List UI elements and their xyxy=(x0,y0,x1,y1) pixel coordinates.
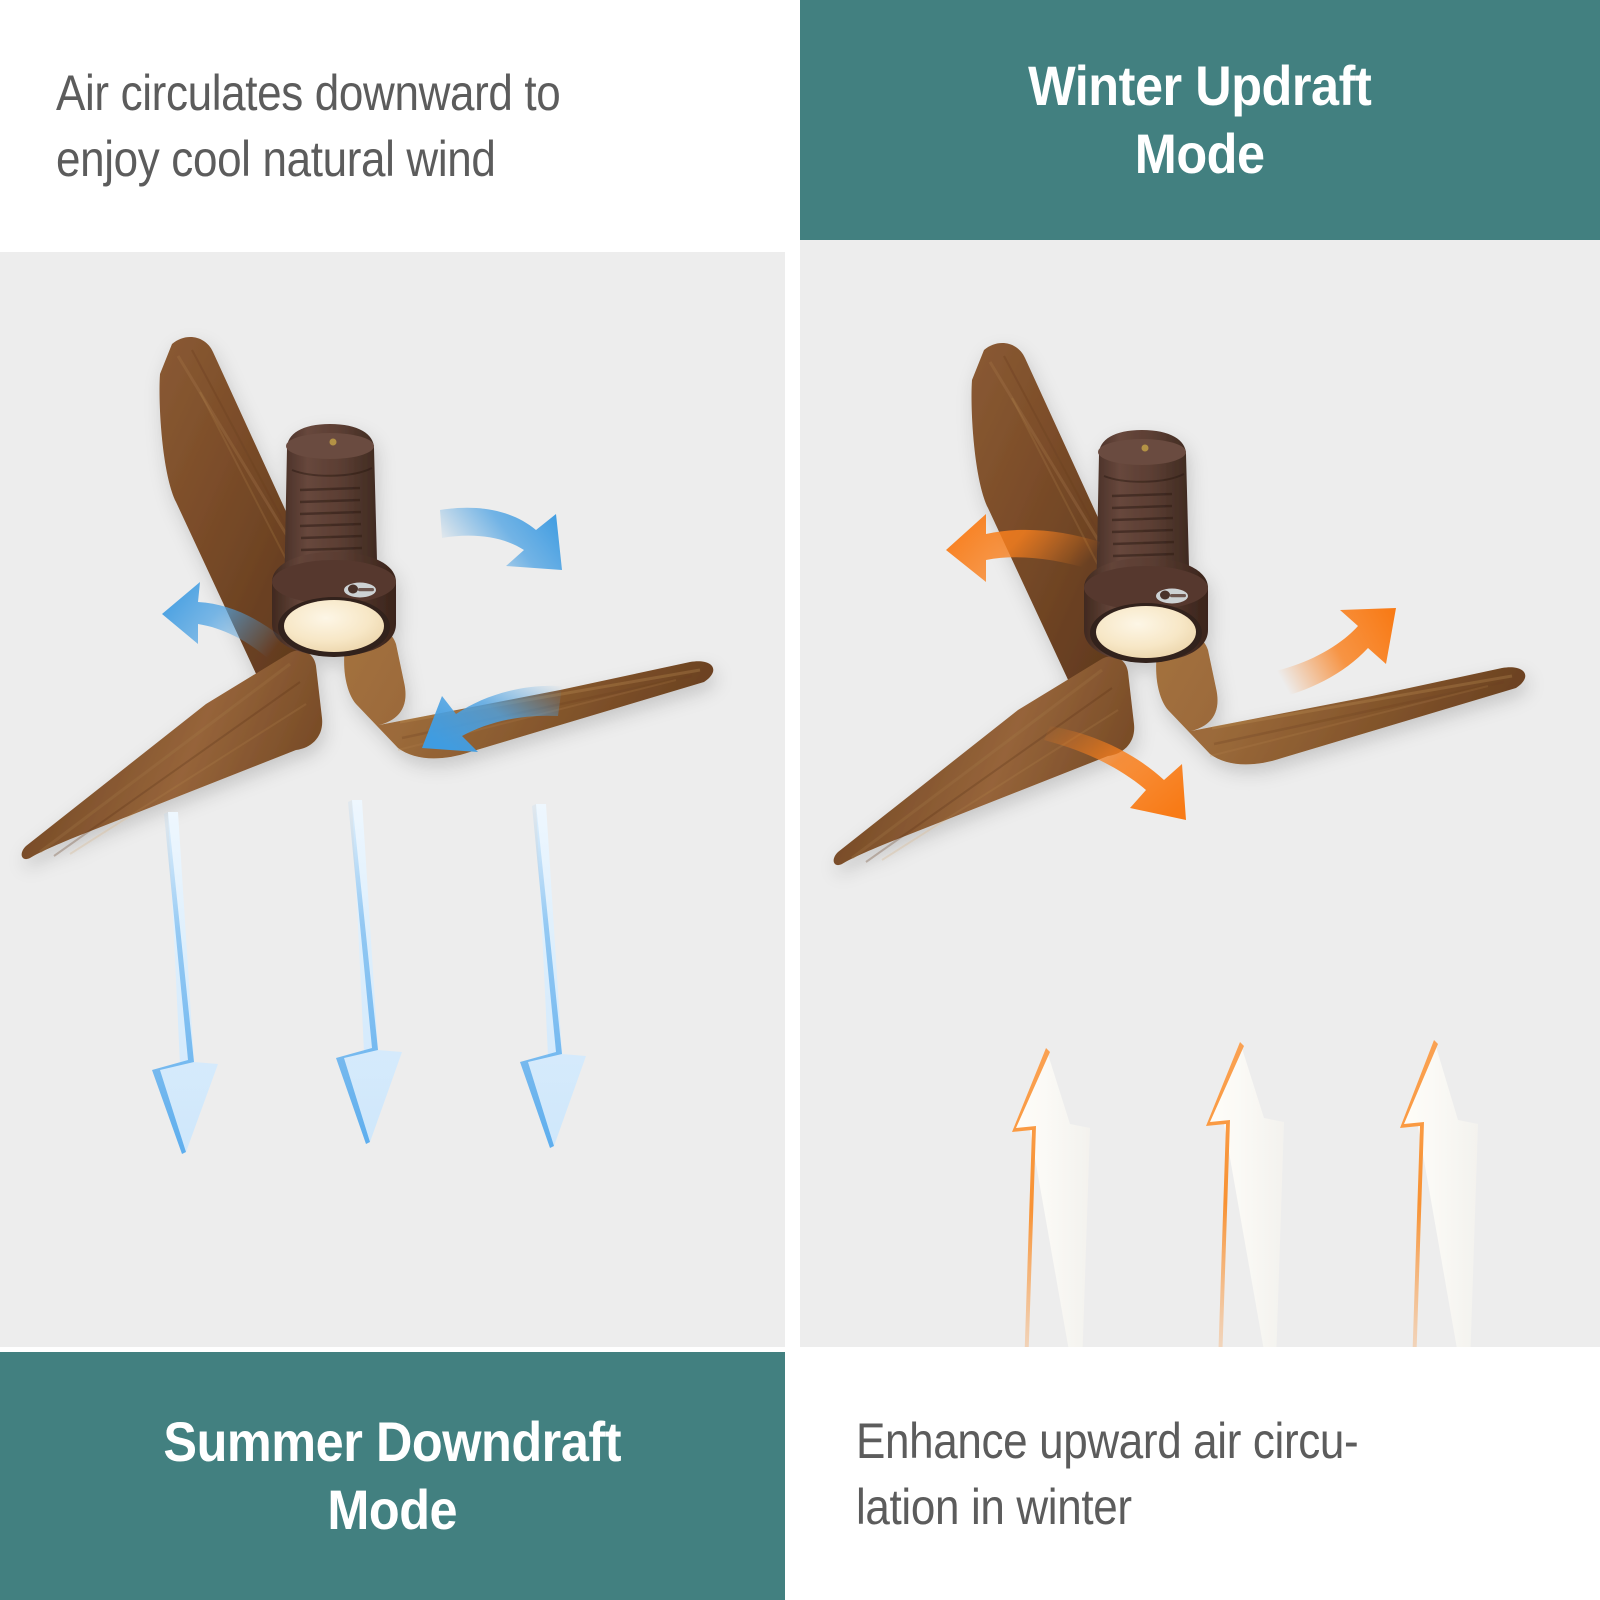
infographic-page: Air circulates downward to enjoy cool na… xyxy=(0,0,1600,1600)
caption-top-left: Air circulates downward to enjoy cool na… xyxy=(0,0,785,252)
brand-logo-badge xyxy=(1156,589,1188,604)
panel-summer-downdraft xyxy=(0,252,785,1347)
caption-top-right: Winter Updraft Mode xyxy=(800,0,1600,240)
summer-downdraft-scene xyxy=(0,252,785,1347)
led-diffuser xyxy=(284,600,384,652)
caption-bottom-left-text: Summer Downdraft Mode xyxy=(164,1408,622,1545)
caption-bottom-left: Summer Downdraft Mode xyxy=(0,1352,785,1600)
caption-top-right-text: Winter Updraft Mode xyxy=(1028,52,1371,189)
caption-bottom-right-text: Enhance upward air circu- lation in wint… xyxy=(856,1408,1358,1540)
brand-logo-badge xyxy=(344,583,376,598)
caption-top-left-text: Air circulates downward to enjoy cool na… xyxy=(56,60,560,192)
caption-bottom-right: Enhance upward air circu- lation in wint… xyxy=(800,1347,1600,1600)
panel-winter-updraft xyxy=(800,240,1600,1347)
winter-updraft-scene xyxy=(800,240,1600,1347)
led-diffuser xyxy=(1096,606,1196,658)
